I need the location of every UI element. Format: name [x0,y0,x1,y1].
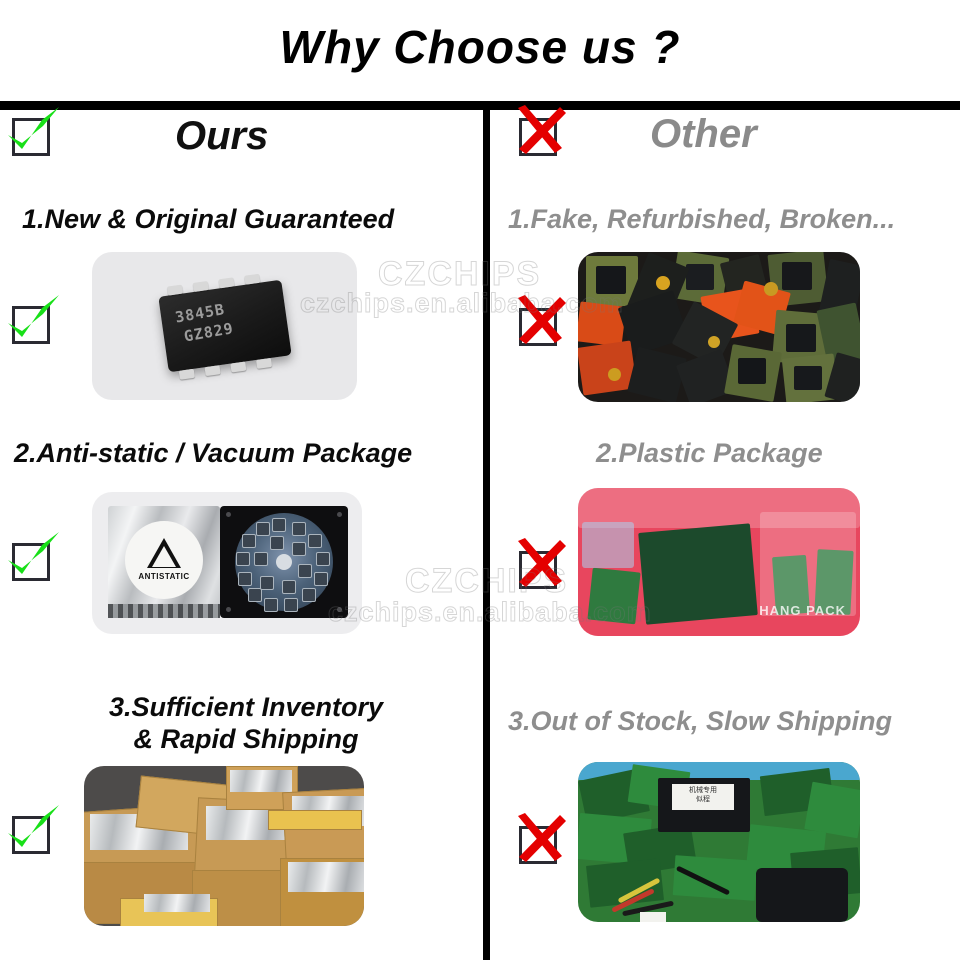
lightning-bolt-icon: ⚡ [160,552,170,566]
green-check-icon [6,537,58,589]
column-header-other: Other [650,114,757,154]
pcb-scrap-pile-photo: 机械专用似程 [578,762,860,922]
check-glyph [2,290,64,352]
row-1-right-label: 1.Fake, Refurbished, Broken... [508,204,958,236]
esd-warning-triangle-icon: ⚡ [147,538,181,568]
reel-hub [276,554,292,570]
antistatic-label-text: ANTISTATIC [138,572,189,581]
row-3-right-label: 3.Out of Stock, Slow Shipping [508,706,960,738]
column-divider [483,110,490,960]
green-check-icon [6,300,58,352]
header-divider [0,101,960,110]
row-1-left-label: 1.New & Original Guaranteed [22,204,472,236]
red-cross-icon [513,820,565,872]
check-glyph [2,800,64,862]
row-2-left-label: 2.Anti-static / Vacuum Package [14,438,484,470]
antistatic-label: ⚡ ANTISTATIC [125,521,203,599]
chip-sop8-photo: 3845B GZ829 [92,252,357,400]
pack-watermark-text: HANG PACK [759,603,846,618]
component-reel [220,506,348,618]
cross-glyph [509,535,571,597]
red-cross-icon [513,112,565,164]
antistatic-bag: ⚡ ANTISTATIC [108,506,220,618]
row-3-left-label: 3.Sufficient Inventory & Rapid Shipping [16,692,476,756]
column-header-ours: Ours [175,116,268,156]
scrap-chips-photo [578,252,860,402]
cross-glyph [509,810,571,872]
check-glyph [2,527,64,589]
box-label: 机械专用似程 [672,784,734,810]
infographic-root: Why Choose us ? Ours Other 1.New & Origi… [0,0,960,960]
green-check-icon [6,810,58,862]
red-cross-icon [513,302,565,354]
watermark-brand: CZCHIPS [378,255,541,294]
row-2-right-label: 2.Plastic Package [596,438,956,470]
cross-glyph [509,102,571,164]
red-cross-icon [513,545,565,597]
check-glyph [2,102,64,164]
warehouse-boxes-photo [84,766,364,926]
antistatic-bag-and-reel-photo: ⚡ ANTISTATIC [92,492,362,634]
green-check-icon [6,112,58,164]
plastic-bag-pcb-photo: HANG PACK [578,488,860,636]
chip-package: 3845B GZ829 [158,280,291,373]
cross-glyph [509,292,571,354]
page-title: Why Choose us ? [0,24,960,70]
